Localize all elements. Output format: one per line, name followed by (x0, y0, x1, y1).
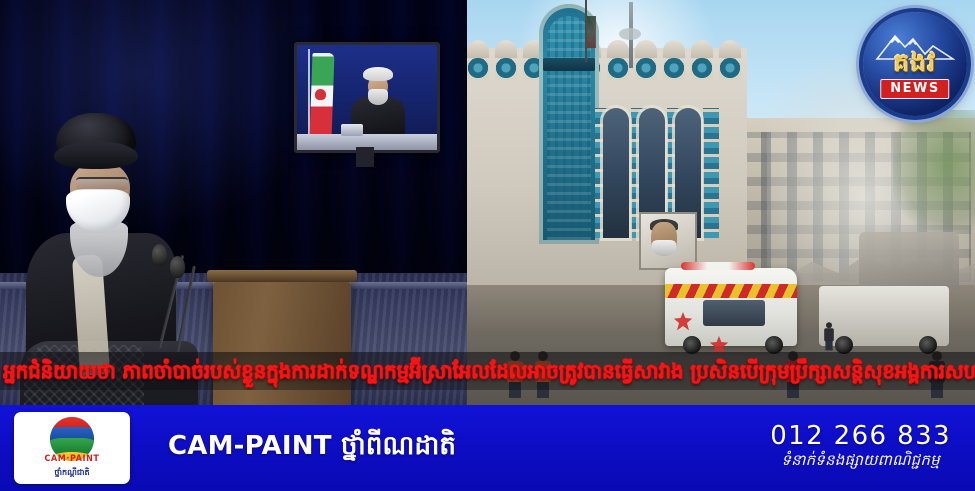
tile-panel (607, 58, 629, 80)
ambulance-chevron-stripe (665, 284, 797, 298)
arched-window (603, 108, 629, 238)
roof-tile-panel-row (467, 58, 757, 80)
sponsor-logo-khmer-sub: ថ្នាំកណ្ដីជាតិ (54, 467, 89, 479)
flag-at-half-mast (587, 16, 596, 48)
sponsor-contact-block: 012 266 833 ទំនាក់ទំនងផ្សាយពាណិជ្ជកម្ម (770, 423, 951, 473)
tile-panel (635, 58, 657, 80)
excavator-loader (859, 232, 959, 290)
ambulance-light-bar (681, 262, 755, 270)
microphone-head-1 (152, 244, 167, 266)
podium-top-lip (207, 270, 357, 282)
flag-emblem (315, 89, 326, 100)
news-channel-logo: គងវ NEWS (863, 12, 967, 116)
turban-wrap (54, 141, 138, 169)
merlon (495, 40, 517, 58)
tile-panel (719, 58, 741, 80)
sponsor-logo-card: CAM·PAINT ថ្នាំកណ្ដីជាតិ (14, 412, 130, 484)
headline-ticker-bar: អ្នកជំនិយាយថា ភាពចាំបាច់របស់ខ្លួនក្នុងកា… (0, 352, 975, 390)
monitor-stand (356, 147, 374, 167)
ambulance-window (703, 300, 765, 326)
merlon (467, 40, 489, 58)
sponsor-phone-number: 012 266 833 (770, 423, 951, 450)
microphone-head-2 (170, 256, 185, 278)
merlon (663, 40, 685, 58)
tile-panel (467, 58, 489, 80)
portrait-beard (652, 240, 676, 256)
portal-calligraphy-band (543, 58, 595, 71)
tile-panel (691, 58, 713, 80)
bystander (824, 322, 834, 350)
tree-foliage (893, 110, 975, 230)
news-graphic-frame: គងវ NEWS អ្នកជំនិយាយថា ភាពចាំបាច់របស់ខ្ល… (0, 0, 975, 491)
left-photo-iran-leader (0, 0, 467, 405)
speaker-beard (368, 89, 388, 105)
roof-merlon-row (467, 40, 757, 58)
rooftop-dish (619, 28, 641, 40)
tile-panel (495, 58, 517, 80)
sponsor-name: CAM-PAINT ថ្នាំពីណដាតិ (168, 429, 456, 467)
merlon (635, 40, 657, 58)
tile-panel (663, 58, 685, 80)
sponsor-banner: CAM·PAINT ថ្នាំកណ្ដីជាតិ CAM-PAINT ថ្នាំ… (0, 405, 975, 491)
merlon (691, 40, 713, 58)
merlon (719, 40, 741, 58)
merlon (607, 40, 629, 58)
photo-strip: គងវ NEWS (0, 0, 975, 405)
video-monitor (294, 42, 440, 153)
right-photo-consulate-strike: គងវ NEWS (467, 0, 975, 405)
logo-khmer-wordmark: គងវ (863, 50, 967, 75)
headline-text: អ្នកជំនិយាយថា ភាពចាំបាច់របស់ខ្លួនក្នុងកា… (0, 361, 975, 381)
sponsor-logo-wordmark: CAM·PAINT (45, 454, 100, 463)
logo-news-label: NEWS (880, 79, 949, 99)
speaker-head-on-screen (363, 67, 393, 103)
sponsor-contact-tagline: ទំនាក់ទំនងផ្សាយពាណិជ្ជកម្ម (770, 451, 951, 473)
eyeglasses (76, 177, 128, 190)
speaker-white-turban (363, 67, 393, 81)
laptop-on-desk (341, 124, 363, 136)
